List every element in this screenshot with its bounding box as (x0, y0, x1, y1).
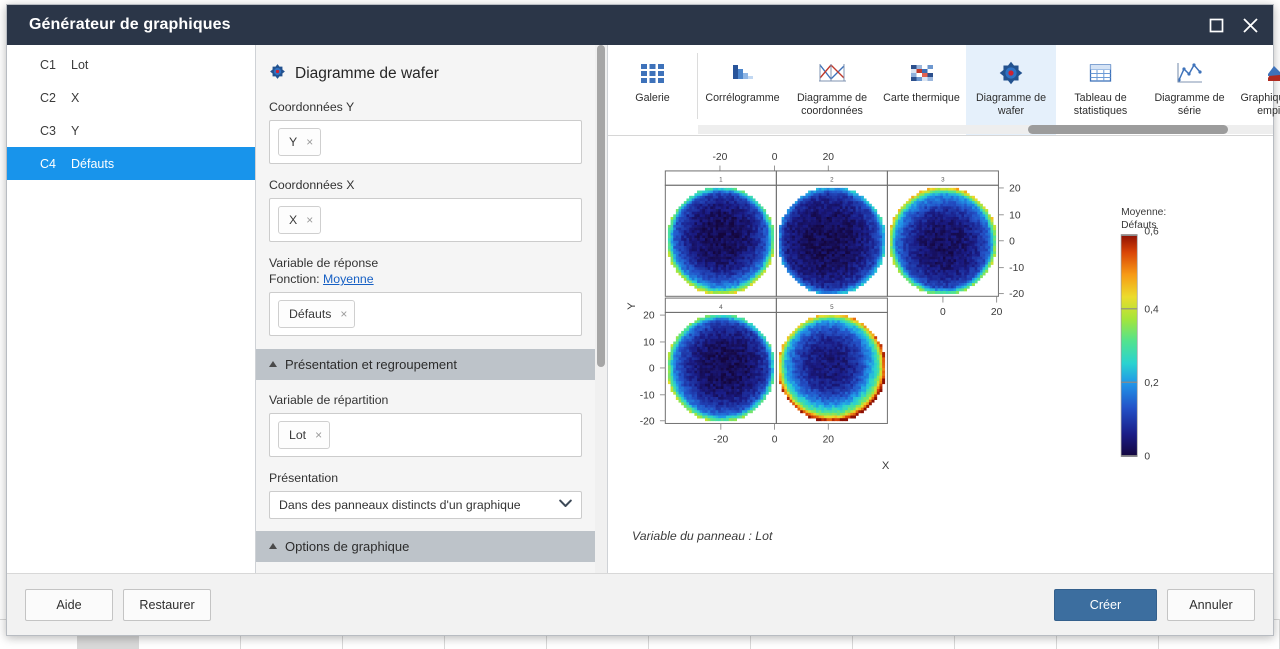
gallery-item-label: Carte thermique (883, 92, 960, 105)
chevron-down-icon (559, 499, 572, 511)
create-button[interactable]: Créer (1054, 589, 1157, 621)
grouping-variable-input[interactable]: Lot × (269, 413, 582, 457)
gallery-scrollbar[interactable] (698, 125, 1273, 134)
y-coordinates-label: Coordonnées Y (269, 99, 582, 115)
section-chart-options-label: Options de graphique (285, 539, 409, 554)
chip-x-label: X (289, 213, 297, 227)
x-coordinates-label: Coordonnées X (269, 177, 582, 193)
app-root: Générateur de graphiques C1 Lot C2 X (0, 0, 1280, 649)
svg-text:5: 5 (830, 304, 834, 311)
gallery-item-diagramme-de-coordonnees[interactable]: Diagramme de coordonnées (787, 45, 877, 135)
response-variable-title: Variable de réponse (269, 255, 582, 271)
bar-chart-icon (730, 54, 756, 92)
svg-text:20: 20 (991, 307, 1003, 318)
dialog-titlebar: Générateur de graphiques (7, 5, 1273, 45)
chip-response[interactable]: Défauts × (278, 300, 355, 328)
response-variable-input[interactable]: Défauts × (269, 292, 582, 336)
svg-text:20: 20 (823, 434, 835, 445)
svg-text:3: 3 (941, 177, 945, 184)
chart-builder-dialog: Générateur de graphiques C1 Lot C2 X (6, 4, 1274, 636)
x-coordinates-input[interactable]: X × (269, 198, 582, 242)
options-scrollbar[interactable] (595, 45, 607, 573)
restore-button[interactable]: Restaurer (123, 589, 211, 621)
wafer-panel-4 (668, 315, 774, 421)
dialog-footer: Aide Restaurer Créer Annuler (7, 573, 1273, 635)
svg-text:0: 0 (772, 152, 778, 163)
wafer-plot-svg: -20 0 20 (608, 136, 1273, 573)
gallery-item-galerie[interactable]: Galerie (608, 45, 697, 135)
chart-type-gallery: Galerie Corrélogramme (608, 45, 1273, 135)
gallery-item-label: Galerie (635, 92, 669, 105)
chip-y[interactable]: Y × (278, 128, 321, 156)
section-layout-grouping-label: Présentation et regroupement (285, 357, 457, 372)
gallery-item-label: Diagramme de coordonnées (787, 92, 877, 118)
svg-text:0: 0 (649, 364, 655, 375)
column-list-item-selected[interactable]: C4 Défauts (7, 147, 255, 180)
chip-grouping-label: Lot (289, 428, 306, 442)
svg-text:-20: -20 (713, 434, 728, 445)
layout-select-value: Dans des panneaux distincts d'un graphiq… (279, 498, 521, 512)
y-coordinates-input[interactable]: Y × (269, 120, 582, 164)
gallery-item-carte-thermique[interactable]: Carte thermique (877, 45, 966, 135)
gallery-item-label: Graphique aires empilées (1234, 92, 1280, 118)
layout-select[interactable]: Dans des panneaux distincts d'un graphiq… (269, 491, 582, 519)
response-function-prefix: Fonction: (269, 272, 320, 286)
wafer-plot-icon (998, 54, 1024, 92)
gallery-item-tableau-de-statistiques[interactable]: Tableau de statistiques (1056, 45, 1145, 135)
table-icon (1088, 54, 1113, 92)
heatmap-icon (909, 54, 935, 92)
svg-text:10: 10 (643, 338, 655, 349)
wafer-panel-3 (890, 188, 996, 294)
y-axis-label: Y (626, 302, 638, 310)
gallery-item-label: Diagramme de série (1145, 92, 1234, 118)
options-title: Diagramme de wafer (295, 65, 439, 83)
maximize-icon[interactable] (1199, 10, 1233, 40)
column-name: Défauts (65, 157, 114, 171)
gallery-item-label: Corrélogramme (705, 92, 779, 105)
svg-text:-20: -20 (640, 416, 655, 427)
close-icon[interactable] (1233, 10, 1267, 40)
field-layout-select: Présentation Dans des panneaux distincts… (256, 470, 595, 519)
response-function-row: Fonction: Moyenne (269, 271, 582, 287)
dialog-body: C1 Lot C2 X C3 Y C4 Défauts (7, 45, 1273, 573)
gallery-item-diagramme-de-serie[interactable]: Diagramme de série (1145, 45, 1234, 135)
gallery-item-correlogramme[interactable]: Corrélogramme (698, 45, 787, 135)
chip-response-remove-icon[interactable]: × (340, 308, 347, 320)
colorbar-legend: Moyenne: Défauts 0,6 0,4 0,2 (1121, 207, 1166, 462)
field-y-coordinates: Coordonnées Y Y × (256, 99, 595, 164)
preview-panel: Galerie Corrélogramme (608, 45, 1273, 573)
chip-grouping[interactable]: Lot × (278, 421, 330, 449)
grouping-variable-label: Variable de répartition (269, 392, 582, 408)
column-list-item[interactable]: C1 Lot (7, 48, 255, 81)
column-id: C1 (7, 58, 65, 72)
series-plot-icon (1176, 54, 1204, 92)
column-list-item[interactable]: C2 X (7, 81, 255, 114)
field-x-coordinates: Coordonnées X X × (256, 177, 595, 242)
options-panel: Diagramme de wafer Coordonnées Y Y × (256, 45, 608, 573)
grid-gallery-icon (640, 54, 665, 92)
help-button[interactable]: Aide (25, 589, 113, 621)
gallery-item-diagramme-de-wafer[interactable]: Diagramme de wafer (966, 45, 1056, 135)
svg-text:0: 0 (940, 307, 946, 318)
parallel-coordinates-icon (817, 54, 847, 92)
column-name: X (65, 91, 79, 105)
response-variable-label: Variable de réponse Fonction: Moyenne (269, 255, 582, 287)
options-scroll-content: Diagramme de wafer Coordonnées Y Y × (256, 45, 595, 573)
chip-y-label: Y (289, 135, 297, 149)
column-list-item[interactable]: C3 Y (7, 114, 255, 147)
column-list: C1 Lot C2 X C3 Y C4 Défauts (7, 45, 256, 573)
svg-text:20: 20 (643, 311, 655, 322)
chip-response-label: Défauts (289, 307, 331, 321)
wafer-panel-5 (779, 315, 885, 421)
svg-text:1: 1 (719, 177, 723, 184)
collapse-triangle-icon (269, 543, 277, 549)
gallery-scrollbar-thumb[interactable] (1028, 125, 1228, 134)
chip-x[interactable]: X × (278, 206, 321, 234)
section-layout-grouping[interactable]: Présentation et regroupement (256, 349, 595, 380)
gallery-item-label: Diagramme de wafer (966, 92, 1056, 118)
area-chart-icon (1266, 54, 1280, 92)
section-chart-options[interactable]: Options de graphique (256, 531, 595, 562)
response-function-link[interactable]: Moyenne (323, 272, 374, 286)
options-scrollbar-thumb[interactable] (597, 45, 605, 367)
column-name: Y (65, 124, 79, 138)
column-id: C2 (7, 91, 65, 105)
svg-text:20: 20 (823, 152, 835, 163)
wafer-panel-2 (779, 188, 885, 294)
x-axis-label: X (882, 460, 890, 472)
chip-y-remove-icon[interactable]: × (306, 136, 313, 148)
svg-text:0: 0 (1009, 236, 1015, 247)
column-id: C4 (7, 157, 65, 171)
svg-text:2: 2 (830, 177, 834, 184)
svg-text:-10: -10 (640, 390, 655, 401)
field-grouping-variable: Variable de répartition Lot × (256, 380, 595, 457)
panel-variable-note: Variable du panneau : Lot (632, 529, 772, 543)
svg-text:0: 0 (772, 434, 778, 445)
svg-text:-20: -20 (712, 152, 727, 163)
column-name: Lot (65, 58, 88, 72)
svg-text:10: 10 (1009, 210, 1021, 221)
svg-text:4: 4 (719, 304, 723, 311)
gallery-item-graphique-aires-empilees[interactable]: Graphique aires empilées (1234, 45, 1280, 135)
layout-select-label: Présentation (269, 470, 582, 486)
chip-grouping-remove-icon[interactable]: × (315, 429, 322, 441)
options-header: Diagramme de wafer (256, 45, 595, 99)
column-id: C3 (7, 124, 65, 138)
field-response-variable: Variable de réponse Fonction: Moyenne Dé… (256, 255, 595, 336)
wafer-panel-1 (668, 188, 774, 294)
chart-preview: -20 0 20 (608, 135, 1273, 573)
dialog-title: Générateur de graphiques (29, 16, 1199, 34)
svg-text:-20: -20 (1009, 289, 1024, 300)
wafer-plot-icon (269, 63, 286, 85)
cancel-button[interactable]: Annuler (1167, 589, 1255, 621)
gallery-item-label: Tableau de statistiques (1056, 92, 1145, 118)
svg-text:20: 20 (1009, 184, 1021, 195)
collapse-triangle-icon (269, 361, 277, 367)
svg-text:-10: -10 (1009, 263, 1024, 274)
chip-x-remove-icon[interactable]: × (306, 214, 313, 226)
